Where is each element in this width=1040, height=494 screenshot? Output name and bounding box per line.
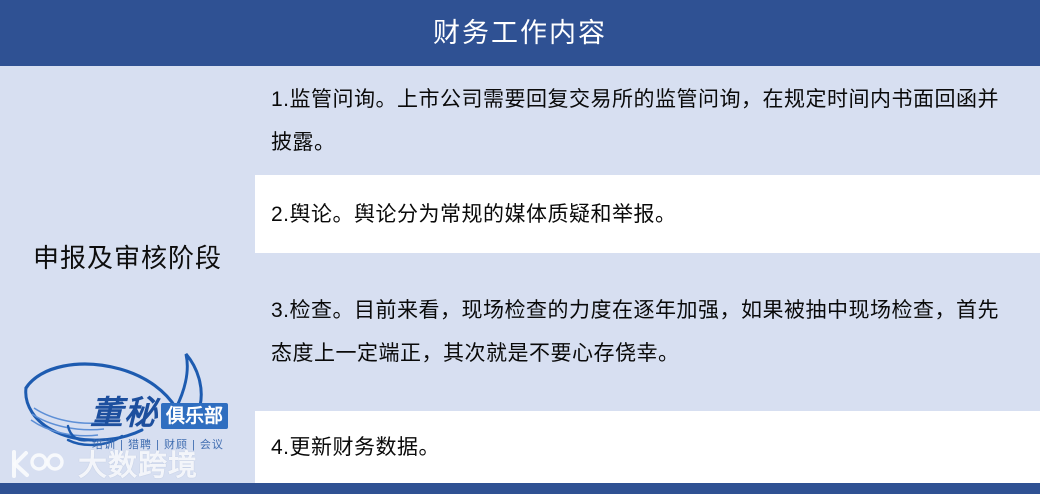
row-text: 4.更新财务数据。 — [271, 426, 1000, 469]
stage-label: 申报及审核阶段 — [0, 238, 255, 275]
row-text: 3.检查。目前来看，现场检查的力度在逐年加强，如果被抽中现场检查，首先态度上一定… — [271, 289, 1000, 375]
row-text: 1.监管问询。上市公司需要回复交易所的监管问询，在规定时间内书面回函并披露。 — [271, 78, 1000, 164]
page-title: 财务工作内容 — [433, 20, 607, 47]
table-row: 2.舆论。舆论分为常规的媒体质疑和举报。 — [255, 175, 1040, 253]
table-row: 1.监管问询。上市公司需要回复交易所的监管问询，在规定时间内书面回函并披露。 — [255, 66, 1040, 175]
club-logo: 董秘 俱乐部 培训 | 猎聘 | 财顾 | 会议 — [8, 336, 253, 466]
k100-logo-icon — [8, 448, 72, 485]
slide-header: 财务工作内容 — [0, 0, 1040, 66]
watermark: 大数跨境 — [8, 448, 198, 485]
slide-container: 财务工作内容 申报及审核阶段 1.监管问询。上市公司需要回复交易所的监管问询，在… — [0, 0, 1040, 494]
content-rows: 1.监管问询。上市公司需要回复交易所的监管问询，在规定时间内书面回函并披露。 2… — [255, 66, 1040, 483]
row-text: 2.舆论。舆论分为常规的媒体质疑和举报。 — [271, 193, 1000, 236]
watermark-text: 大数跨境 — [78, 452, 198, 481]
logo-wordmark: 董秘 俱乐部 — [90, 396, 228, 429]
logo-name: 董秘 — [90, 396, 158, 429]
table-row: 3.检查。目前来看，现场检查的力度在逐年加强，如果被抽中现场检查，首先态度上一定… — [255, 253, 1040, 411]
table-row: 4.更新财务数据。 — [255, 411, 1040, 483]
logo-badge: 俱乐部 — [161, 403, 228, 429]
